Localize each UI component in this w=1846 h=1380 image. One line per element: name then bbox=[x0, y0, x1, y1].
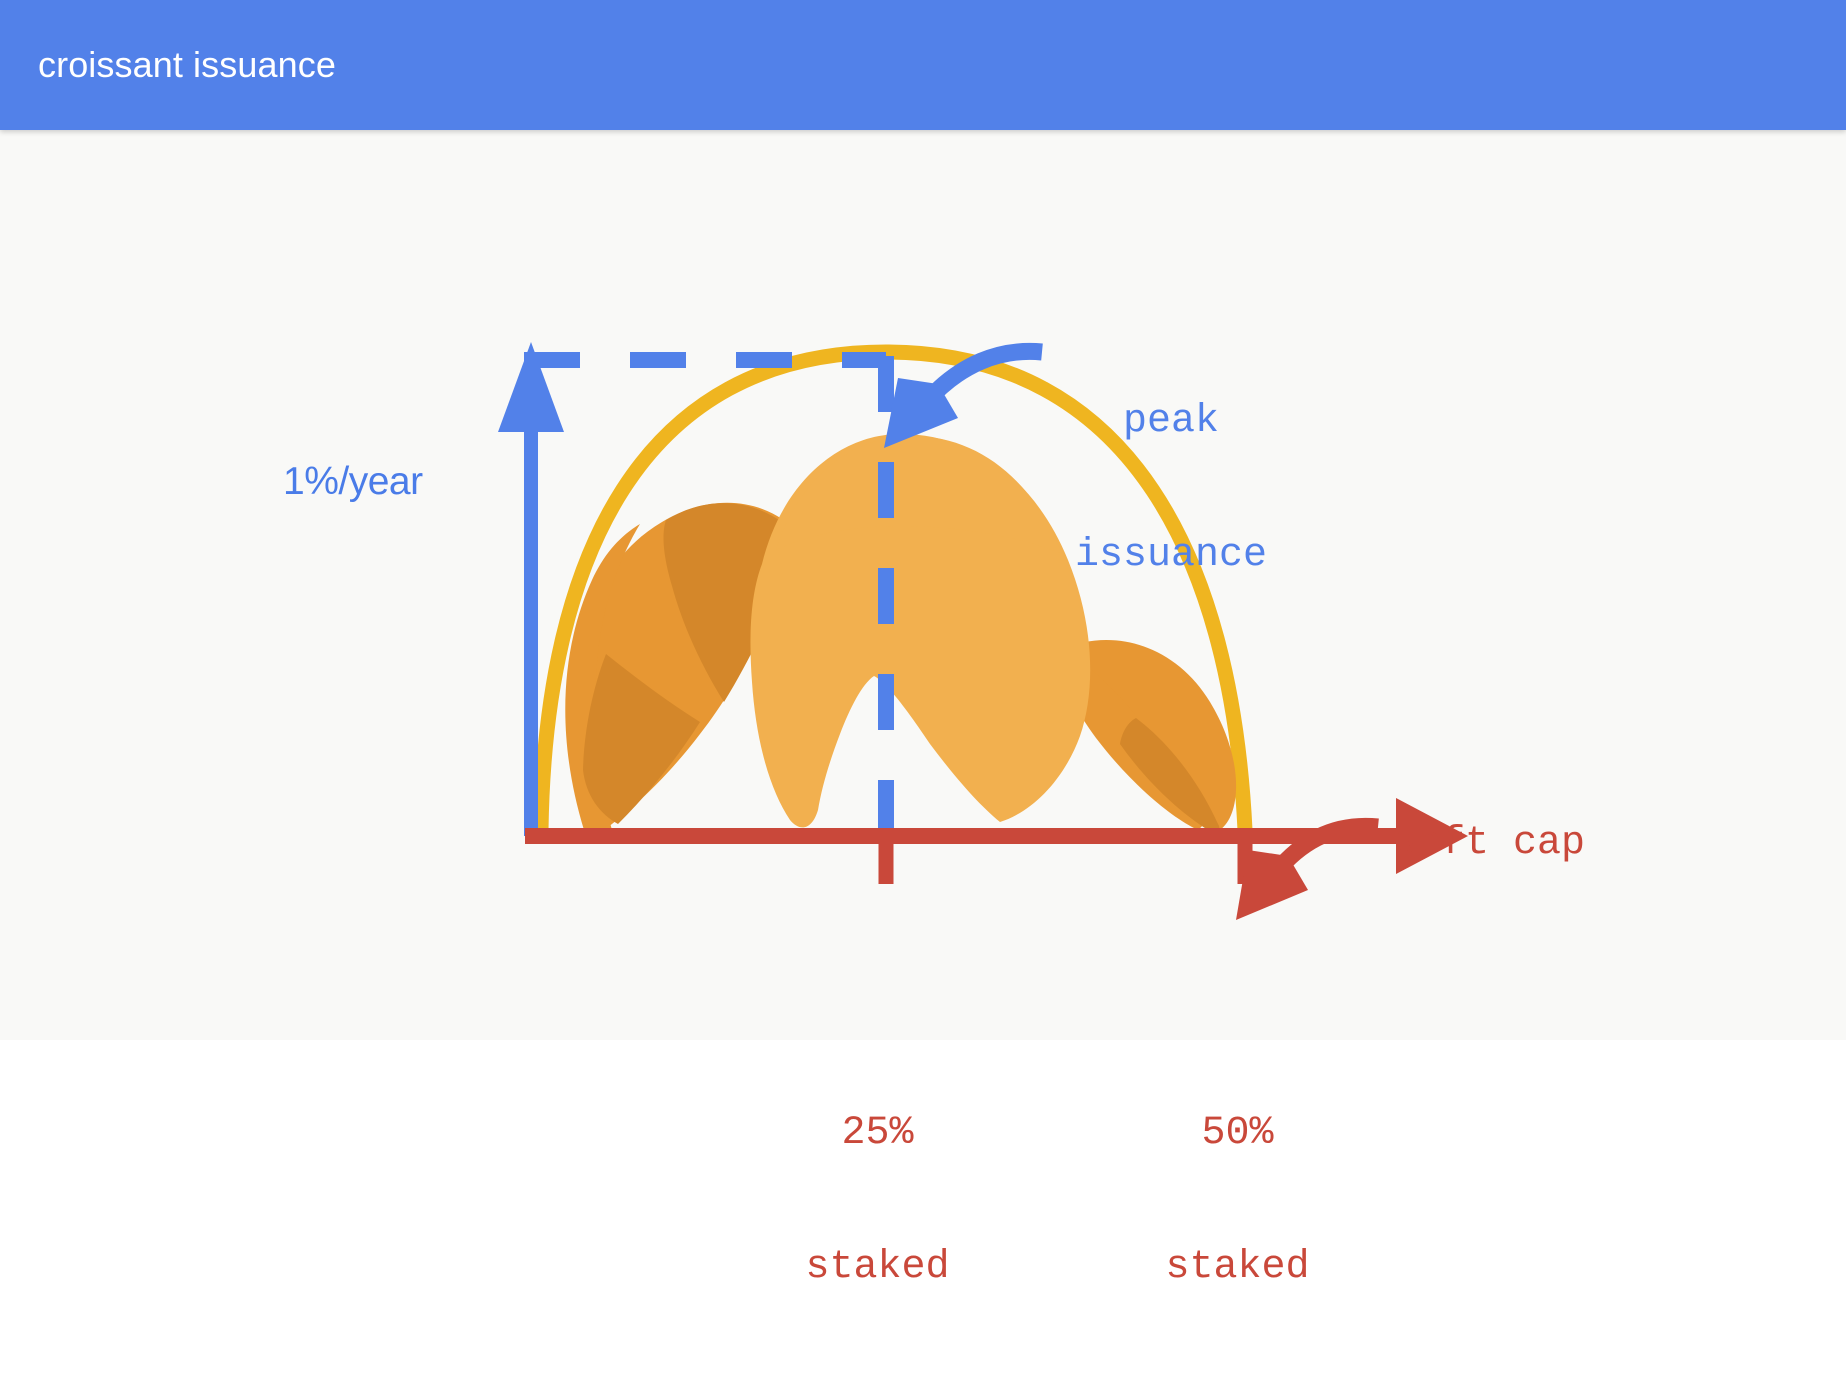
peak-pointer-arrow bbox=[884, 351, 1042, 448]
y-axis bbox=[498, 342, 564, 836]
peak-issuance-annotation: peak issuance bbox=[1056, 310, 1286, 668]
y-axis-tick-label: 1%/year bbox=[283, 460, 423, 504]
x-tick-label-50: 50% staked bbox=[1130, 1022, 1345, 1380]
x-tick-label-25: 25% staked bbox=[770, 1022, 985, 1380]
issuance-diagram: 1%/year peak issuance soft cap 25% stake… bbox=[0, 130, 1846, 1040]
x-tick-label-25-value: 25% bbox=[770, 1112, 985, 1157]
page-title: croissant issuance bbox=[38, 44, 336, 86]
peak-issuance-line2: issuance bbox=[1056, 534, 1286, 579]
x-tick-label-50-value: 50% bbox=[1130, 1112, 1345, 1157]
peak-issuance-line1: peak bbox=[1056, 400, 1286, 445]
app-header-bar: croissant issuance bbox=[0, 0, 1846, 130]
x-tick-label-25-unit: staked bbox=[770, 1246, 985, 1291]
x-tick-label-50-unit: staked bbox=[1130, 1246, 1345, 1291]
soft-cap-annotation: soft cap bbox=[1393, 822, 1585, 867]
slide-canvas: croissant issuance bbox=[0, 0, 1846, 1040]
diagram-graphics bbox=[0, 130, 1846, 1040]
